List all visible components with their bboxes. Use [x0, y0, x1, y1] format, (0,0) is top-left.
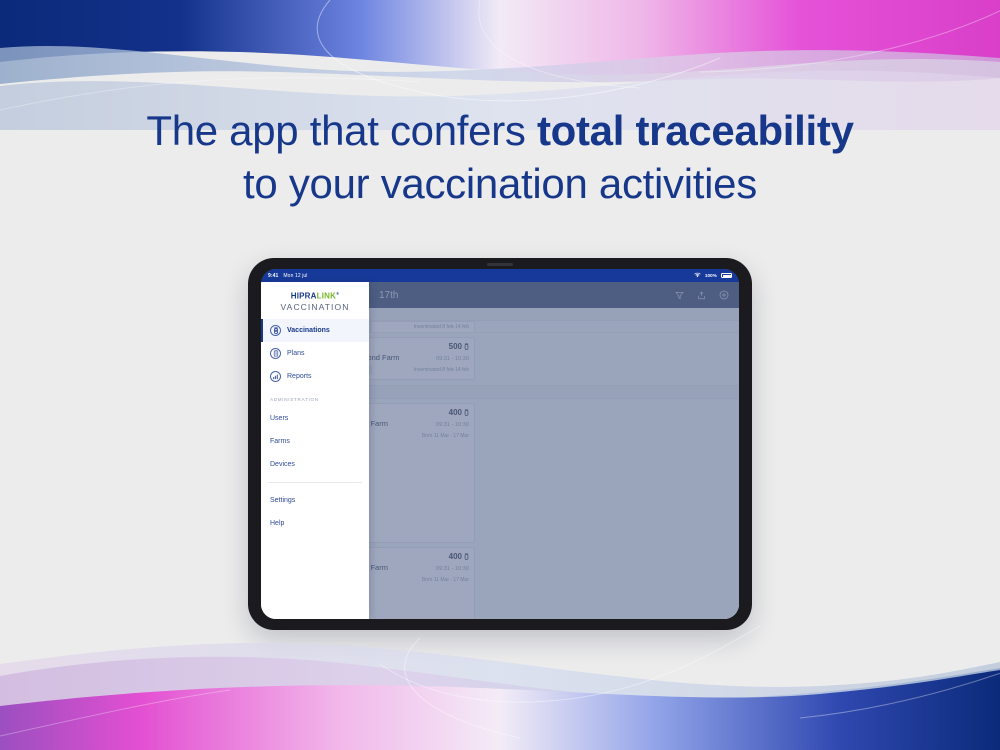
- status-date: Mon 12 jul: [283, 273, 307, 279]
- bar-chart-icon: [270, 371, 281, 382]
- card-time: 09:31 - 10:30: [436, 422, 469, 428]
- card-time: 09:31 - 10:30: [436, 356, 469, 362]
- vial-icon: [464, 409, 469, 416]
- logo-registered: ®: [336, 291, 339, 296]
- card-meta: Born 11 Mar - 17 Mar: [422, 577, 469, 583]
- logo-subtitle: VACCINATION: [261, 302, 369, 312]
- sidebar-item-label: Reports: [287, 373, 312, 380]
- sidebar-section-administration: ADMINISTRATION: [261, 388, 369, 407]
- app-body: 17th: [261, 282, 739, 619]
- logo-hipra: HIPRA: [291, 292, 317, 301]
- sidebar-item-settings[interactable]: Settings: [261, 489, 369, 512]
- tablet-camera: [487, 263, 513, 266]
- sidebar-item-plans[interactable]: Plans: [261, 342, 369, 365]
- sidebar-item-label: Users: [270, 415, 288, 422]
- wifi-icon: [694, 272, 701, 280]
- sidebar-item-vaccinations[interactable]: Vaccinations: [261, 319, 369, 342]
- dose-count: 400: [449, 552, 469, 561]
- filter-icon[interactable]: [675, 291, 684, 300]
- sidebar-divider: [268, 482, 362, 483]
- card-meta: Inseminated 8 feb-14 feb: [414, 324, 469, 330]
- tablet-screen: 9:41 Mon 12 jul 100% 17th: [261, 269, 739, 619]
- tablet-device-mockup: 9:41 Mon 12 jul 100% 17th: [248, 258, 752, 630]
- headline-line1-strong: total traceability: [537, 107, 854, 154]
- headline-line2: to your vaccination activities: [0, 158, 1000, 211]
- card-meta: Born 11 Mar - 17 Mar: [422, 433, 469, 439]
- page-headline: The app that confers total traceability …: [0, 105, 1000, 210]
- dose-count: 400: [449, 408, 469, 417]
- headline-line1-plain: The app that confers: [146, 107, 537, 154]
- card-meta: Inseminated 8 feb-14 feb: [414, 367, 469, 373]
- add-circle-icon[interactable]: [719, 290, 729, 300]
- vaccine-vial-icon: [270, 325, 281, 336]
- vial-icon: [464, 553, 469, 560]
- sidebar-item-users[interactable]: Users: [261, 407, 369, 430]
- app-logo: HIPRALINK® VACCINATION: [261, 282, 369, 319]
- background-wave-bottom: [0, 620, 1000, 750]
- dose-count: 500: [449, 342, 469, 351]
- battery-full-icon: [721, 273, 732, 278]
- sidebar-item-label: Vaccinations: [287, 327, 330, 334]
- drawer-empty-space: [261, 535, 369, 619]
- sidebar-item-label: Farms: [270, 438, 290, 445]
- sidebar-item-devices[interactable]: Devices: [261, 453, 369, 476]
- sidebar-item-farms[interactable]: Farms: [261, 430, 369, 453]
- sidebar-item-label: Settings: [270, 497, 295, 504]
- sidebar-item-help[interactable]: Help: [261, 512, 369, 535]
- battery-percent: 100%: [705, 273, 717, 278]
- vial-icon: [464, 343, 469, 350]
- card-time: 09:31 - 10:30: [436, 566, 469, 572]
- logo-link: LINK: [317, 292, 336, 301]
- share-upload-icon[interactable]: [697, 291, 706, 300]
- sidebar-item-label: Devices: [270, 461, 295, 468]
- clipboard-icon: [270, 348, 281, 359]
- navigation-drawer: HIPRALINK® VACCINATION Vaccinations Plan…: [261, 282, 369, 619]
- sidebar-item-label: Plans: [287, 350, 305, 357]
- sidebar-item-reports[interactable]: Reports: [261, 365, 369, 388]
- ios-status-bar: 9:41 Mon 12 jul 100%: [261, 269, 739, 282]
- status-time: 9:41: [268, 273, 278, 279]
- sidebar-item-label: Help: [270, 520, 284, 527]
